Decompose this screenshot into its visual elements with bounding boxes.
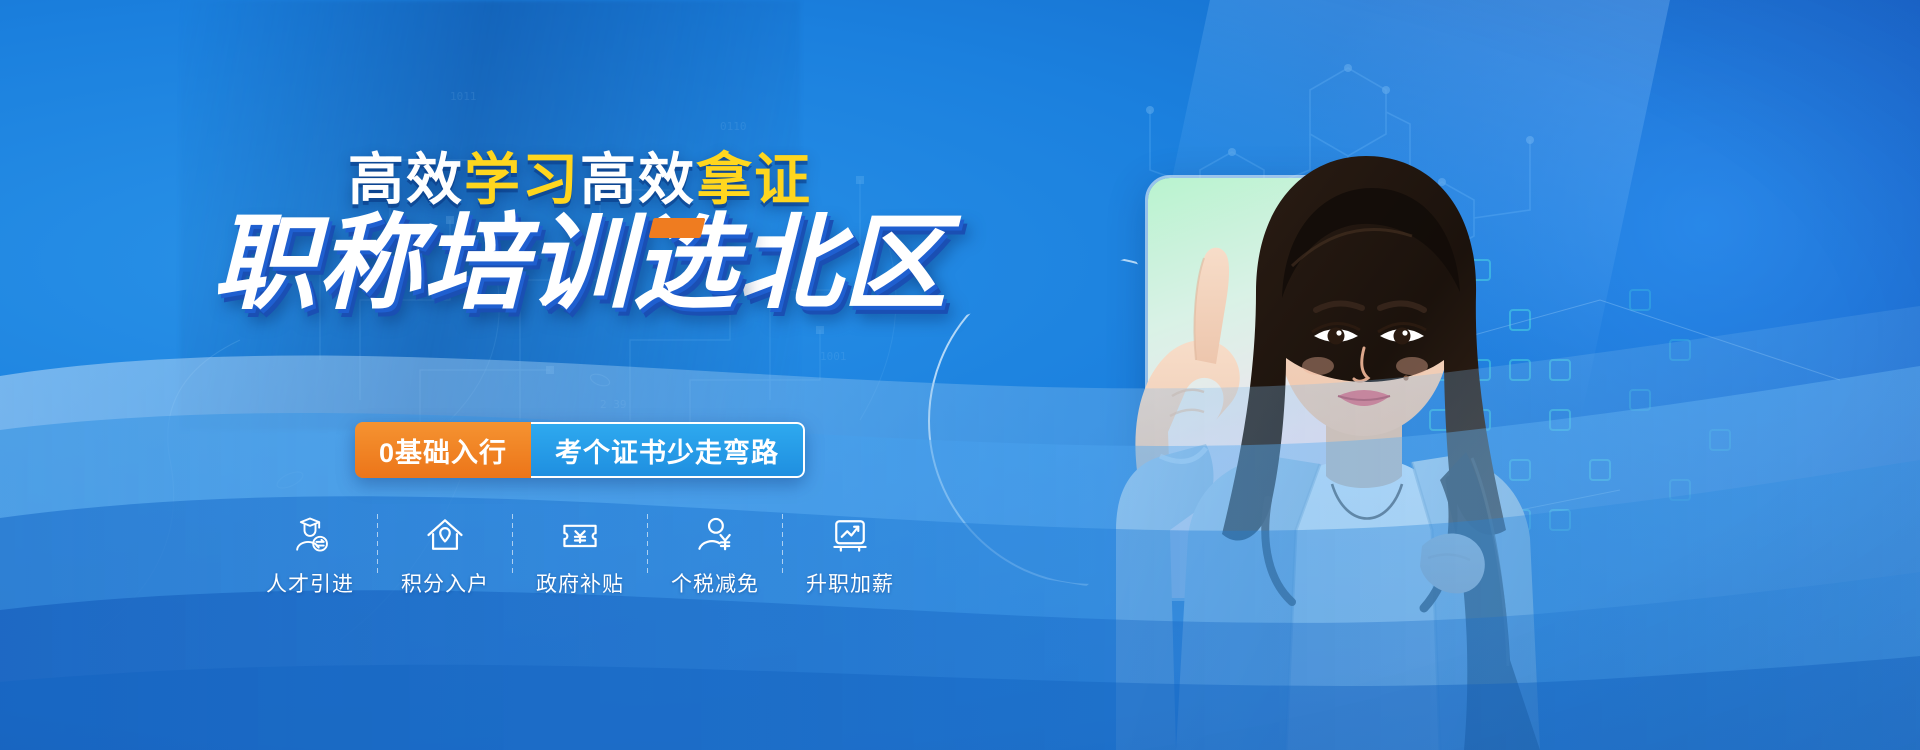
- feature-label: 政府补贴: [536, 568, 624, 598]
- hero-eyebrow: 高效学习高效拿证: [0, 152, 1160, 208]
- title-char: 称: [317, 212, 422, 316]
- eyebrow-segment-1: 高效: [348, 148, 464, 211]
- title-char: 职: [212, 212, 317, 316]
- title-accent-char-wrap: 选: [633, 212, 738, 316]
- house-pin-icon: [422, 512, 468, 558]
- title-char: 训: [527, 212, 632, 316]
- person-yuan-icon: [692, 512, 738, 558]
- feature-item-tax-reduction[interactable]: 个税减免: [648, 512, 782, 598]
- title-char: 区: [843, 212, 948, 316]
- eyebrow-segment-3: 高效: [580, 148, 696, 211]
- feature-divider: [782, 514, 783, 576]
- tagline-row: 0基础入行 考个证书少走弯路: [0, 422, 1160, 478]
- tagline-badge[interactable]: 0基础入行: [355, 422, 531, 478]
- chart-board-icon: [827, 512, 873, 558]
- title-char: 培: [422, 212, 527, 316]
- tagline-pill[interactable]: 0基础入行 考个证书少走弯路: [355, 422, 805, 478]
- feature-strip: 人才引进 积分入户: [0, 512, 1160, 598]
- feature-divider: [647, 514, 648, 576]
- feature-item-points-residency[interactable]: 积分入户: [378, 512, 512, 598]
- banner-content: 高效学习高效拿证 职称培训选北区 0基础入行 考个证书少走弯路: [0, 0, 1920, 750]
- title-char: 北: [738, 212, 843, 316]
- feature-item-government-subsidy[interactable]: 政府补贴: [513, 512, 647, 598]
- feature-divider: [512, 514, 513, 576]
- graduate-person-icon: [287, 512, 333, 558]
- feature-label: 积分入户: [401, 568, 489, 598]
- feature-label: 人才引进: [266, 568, 354, 598]
- feature-label: 升职加薪: [806, 568, 894, 598]
- feature-item-talent-introduction[interactable]: 人才引进: [243, 512, 377, 598]
- eyebrow-segment-4: 拿证: [696, 148, 812, 211]
- feature-label: 个税减免: [671, 568, 759, 598]
- tagline-text[interactable]: 考个证书少走弯路: [531, 422, 805, 478]
- eyebrow-segment-2: 学习: [464, 148, 580, 211]
- orange-accent-bar: [648, 218, 705, 238]
- feature-item-promotion-raise[interactable]: 升职加薪: [783, 512, 917, 598]
- promo-banner: 2 391011 01101001: [0, 0, 1920, 750]
- feature-divider: [377, 514, 378, 576]
- ticket-yuan-icon: [557, 512, 603, 558]
- hero-title: 职称培训选北区: [0, 212, 1160, 316]
